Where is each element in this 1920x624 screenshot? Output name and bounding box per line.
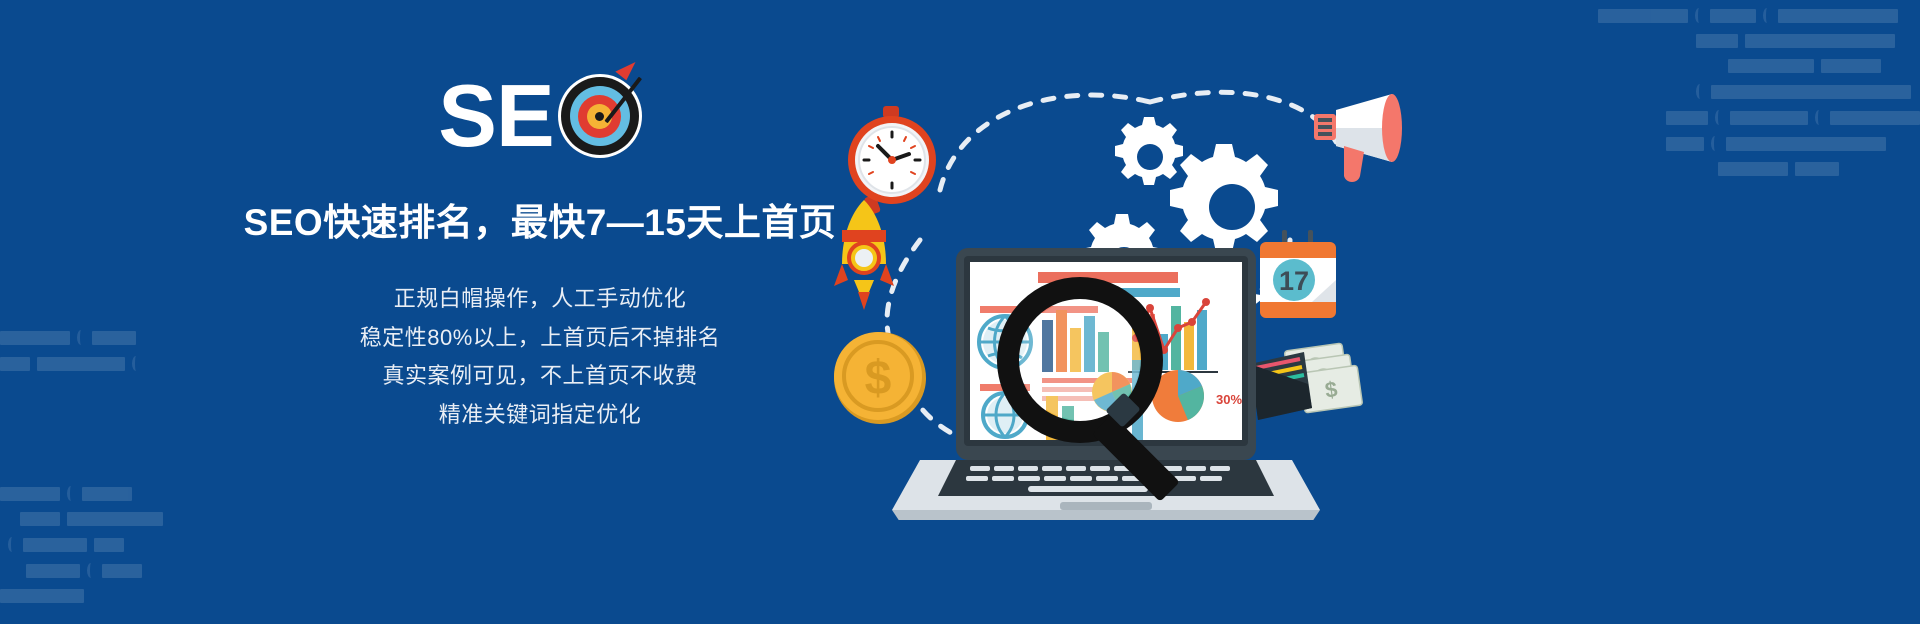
seo-logo-letters: SE — [438, 72, 553, 160]
headline-block: SE SEO快速排名，最快7—15天上首页 正规白帽操作，人工手动优化 稳定性8… — [240, 70, 840, 434]
rocket-icon — [834, 200, 894, 310]
code-pattern-top-right — [1598, 8, 1920, 187]
calendar-icon: 17 — [1260, 230, 1336, 318]
seo-promo-banner: SE SEO快速排名，最快7—15天上首页 正规白帽操作，人工手动优化 稳定性8… — [0, 0, 1920, 624]
calendar-day-number: 17 — [1279, 266, 1309, 296]
feature-item-2: 稳定性80%以上，上首页后不掉排名 — [240, 319, 840, 358]
page-title: SEO快速排名，最快7—15天上首页 — [240, 192, 840, 246]
clock-icon — [848, 106, 936, 215]
megaphone-icon — [1314, 94, 1402, 182]
seo-analytics-illustration: $ 17 — [820, 40, 1440, 520]
feature-list: 正规白帽操作，人工手动优化 稳定性80%以上，上首页后不掉排名 真实案例可见，不… — [240, 280, 840, 434]
pie-percentage-label: 30% — [1216, 392, 1242, 407]
seo-logo: SE — [240, 70, 840, 162]
code-pattern-middle-left — [0, 330, 140, 382]
feature-item-1: 正规白帽操作，人工手动优化 — [240, 280, 840, 319]
code-pattern-bottom-left — [0, 486, 163, 614]
feature-item-3: 真实案例可见，不上首页不收费 — [240, 357, 840, 396]
feature-item-4: 精准关键词指定优化 — [240, 396, 840, 435]
svg-text:$: $ — [865, 352, 892, 405]
wallet-cash-icon: $ — [1250, 341, 1363, 420]
dartboard-target-icon — [558, 74, 642, 158]
dollar-coin-icon: $ — [834, 332, 926, 424]
